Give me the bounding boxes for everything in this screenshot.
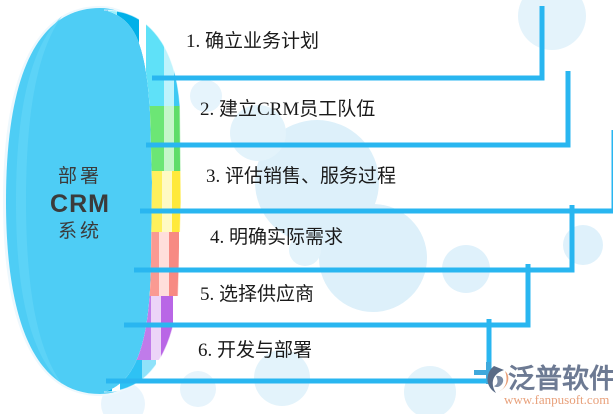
disc-center-label: 部署 CRM 系统 bbox=[24, 164, 136, 244]
step-item-3: 3. 评估销售、服务过程 bbox=[206, 167, 396, 186]
disc-label-line1: 部署 bbox=[24, 164, 136, 189]
step-number-5: 5. bbox=[200, 284, 214, 305]
step-item-5: 5. 选择供应商 bbox=[200, 285, 314, 304]
step-number-2: 2. bbox=[200, 99, 214, 120]
step-number-4: 4. bbox=[210, 227, 224, 248]
disc-label-line2: CRM bbox=[24, 189, 136, 219]
step-item-2: 2. 建立CRM员工队伍 bbox=[200, 100, 375, 119]
watermark-brand: 泛普软件 bbox=[508, 364, 613, 394]
step-label-3: 评估销售、服务过程 bbox=[225, 166, 396, 187]
step-label-4: 明确实际需求 bbox=[229, 227, 343, 248]
step-item-4: 4. 明确实际需求 bbox=[210, 228, 343, 247]
step-item-6: 6. 开发与部署 bbox=[198, 341, 312, 360]
disc-label-line3: 系统 bbox=[24, 219, 136, 244]
step-number-3: 3. bbox=[206, 166, 220, 187]
step-number-1: 1. bbox=[186, 31, 200, 52]
step-label-1: 确立业务计划 bbox=[205, 31, 319, 52]
step-number-6: 6. bbox=[198, 340, 212, 361]
step-label-6: 开发与部署 bbox=[217, 340, 312, 361]
step-item-1: 1. 确立业务计划 bbox=[186, 32, 319, 51]
watermark: 泛普软件 www.fanpusoft.com bbox=[474, 364, 610, 410]
step-label-2: 建立CRM员工队伍 bbox=[219, 99, 375, 120]
watermark-url: www.fanpusoft.com bbox=[504, 393, 609, 407]
step-label-5: 选择供应商 bbox=[219, 284, 314, 305]
crm-deployment-diagram: 1. 确立业务计划 2. 建立CRM员工队伍 3. 评估销售、服务过程 4. 明… bbox=[0, 0, 613, 414]
